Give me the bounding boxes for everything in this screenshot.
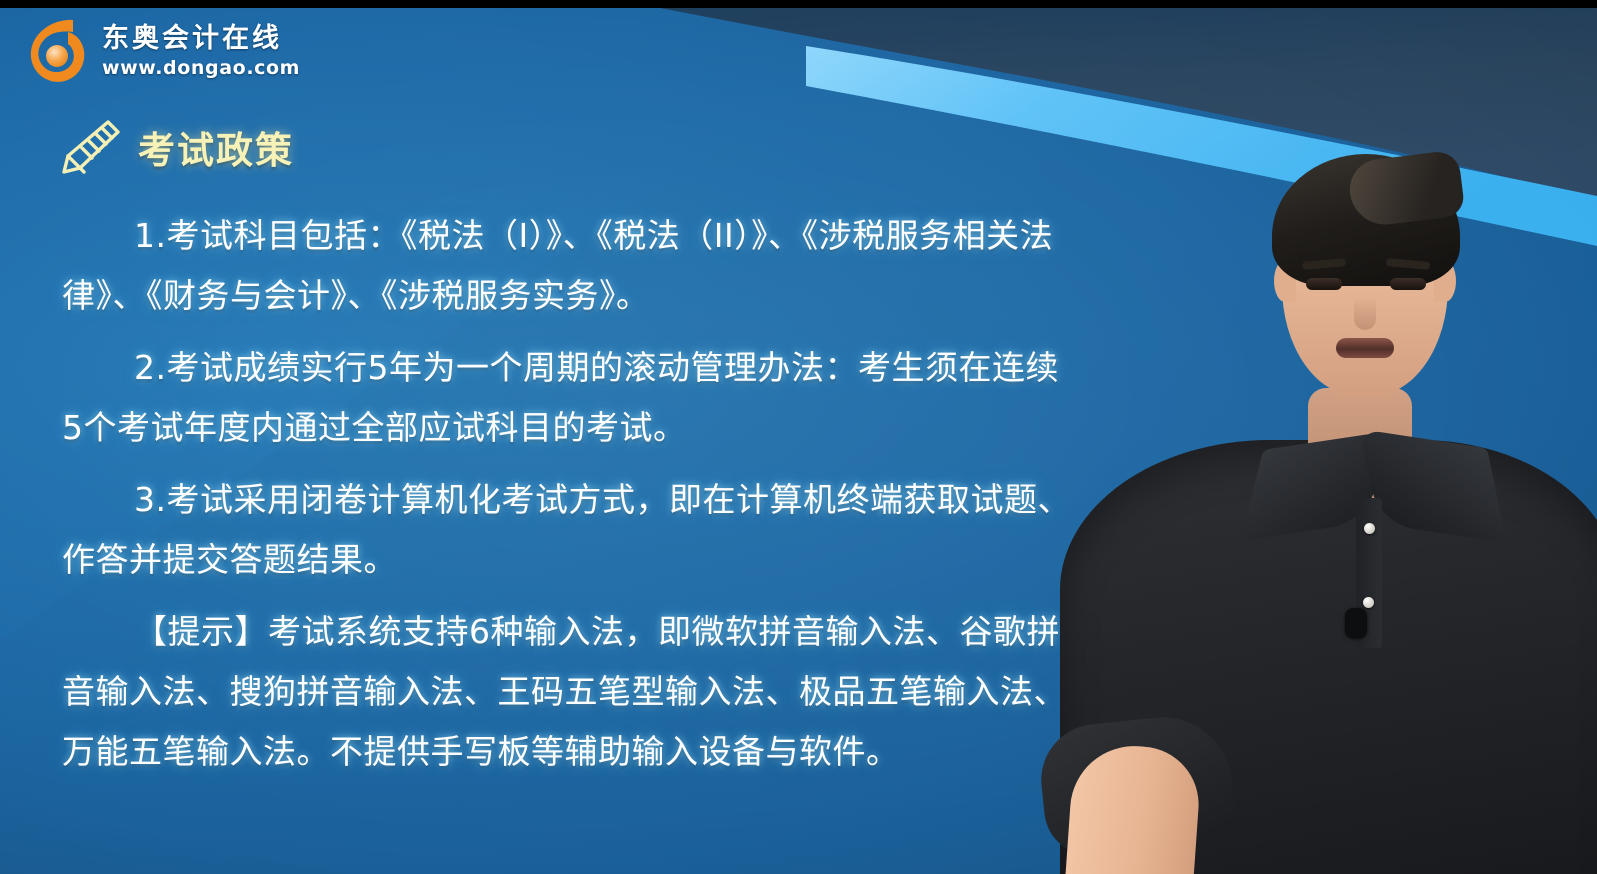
brand-name-cn: 东奥会计在线 bbox=[102, 25, 300, 52]
dongao-d-logo-icon bbox=[26, 18, 88, 84]
brand-logo: 东奥会计在线 www.dongao.com bbox=[26, 18, 300, 84]
presenter-mouth bbox=[1336, 338, 1394, 358]
brand-url: www.dongao.com bbox=[102, 59, 300, 78]
presenter-video-overlay bbox=[1020, 120, 1597, 874]
slide-paragraph-2: 2.考试成绩实行5年为一个周期的滚动管理办法：考生须在连续5个考试年度内通过全部… bbox=[62, 338, 1072, 458]
pencil-icon bbox=[58, 118, 122, 176]
lapel-microphone-icon bbox=[1345, 608, 1367, 638]
slide-paragraph-3: 3.考试采用闭卷计算机化考试方式，即在计算机终端获取试题、作答并提交答题结果。 bbox=[62, 470, 1072, 590]
slide-paragraph-tip: 【提示】考试系统支持6种输入法，即微软拼音输入法、谷歌拼音输入法、搜狗拼音输入法… bbox=[62, 602, 1072, 782]
presenter-eye-left bbox=[1306, 278, 1342, 290]
letterbox-bar-top bbox=[0, 0, 1597, 8]
presenter-eye-right bbox=[1390, 278, 1426, 290]
presenter-shirt-button-top bbox=[1364, 523, 1375, 534]
presenter-nose bbox=[1354, 296, 1376, 330]
slide-content: 1.考试科目包括：《税法（I）》、《税法（II）》、《涉税服务相关法律》、《财务… bbox=[62, 206, 1072, 782]
video-frame: 东奥会计在线 www.dongao.com 考试政策 1.考试科目包括：《税法（… bbox=[0, 0, 1597, 874]
slide-paragraph-1: 1.考试科目包括：《税法（I）》、《税法（II）》、《涉税服务相关法律》、《财务… bbox=[62, 206, 1072, 326]
section-title: 考试政策 bbox=[58, 118, 294, 176]
presenter-shirt-button-bottom bbox=[1363, 597, 1374, 608]
section-title-label: 考试政策 bbox=[138, 120, 294, 174]
